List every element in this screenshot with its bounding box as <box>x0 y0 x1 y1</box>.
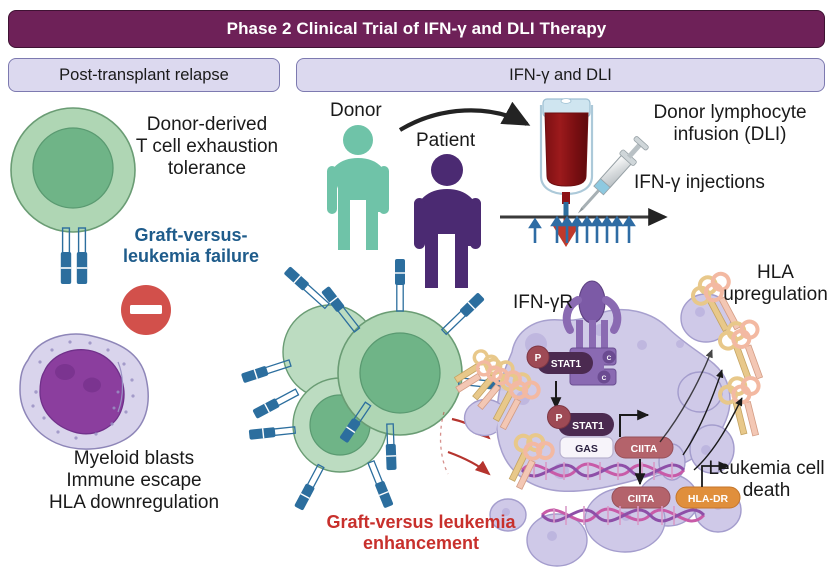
gvl-failure-label: Graft-versus- leukemia failure <box>96 225 286 267</box>
gvl-enhancement-label: Graft-versus leukemia enhancement <box>288 512 554 554</box>
gas-label: GAS <box>575 443 598 455</box>
figure-canvas: Phase 2 Clinical Trial of IFN-γ and DLI … <box>0 0 833 572</box>
gas-element: GAS <box>560 437 613 458</box>
no-entry-icon <box>121 285 171 335</box>
infusion-arrow <box>553 216 579 247</box>
timeline-dose-arrows <box>531 218 634 243</box>
ifn-gamma-receptor-label: IFN-γR <box>513 292 573 314</box>
ciita-protein: CIITA <box>612 487 670 508</box>
leukemia-cell <box>465 310 730 492</box>
donor-person-icon <box>327 125 389 250</box>
hla-upregulation-label: HLA upregulation <box>718 262 833 306</box>
patient-person-icon <box>414 154 481 288</box>
section-header-left-label: Post-transplant relapse <box>59 66 229 85</box>
section-header-post-transplant-relapse: Post-transplant relapse <box>8 58 280 92</box>
svg-text:C: C <box>607 355 612 362</box>
myeloid-blast-label: Myeloid blasts Immune escape HLA downreg… <box>18 448 250 514</box>
patient-label: Patient <box>416 130 475 152</box>
section-header-ifng-dli: IFN-γ and DLI <box>296 58 825 92</box>
dna-helix-lower <box>542 506 704 525</box>
donor-to-bag-arrow <box>400 110 527 130</box>
ciita-transcript-label: CIITA <box>631 443 658 455</box>
tcr-receptor-group <box>61 228 87 284</box>
satellite-nuclei <box>502 307 723 541</box>
dna-helix-upper <box>522 462 684 480</box>
leukemia-cell-death-label: Leukemia cell death <box>700 458 833 502</box>
donor-label: Donor <box>330 100 382 122</box>
section-header-right-label: IFN-γ and DLI <box>509 66 612 85</box>
phospho-label-2: P <box>555 412 562 424</box>
ifn-gamma-receptor: C C <box>567 281 618 385</box>
ifng-injections-label: IFN-γ injections <box>634 172 765 194</box>
stat1-membrane-complex: P STAT1 <box>527 346 593 374</box>
ciita-protein-label: CIITA <box>628 493 655 505</box>
stat1-nuclear-complex: P STAT1 <box>548 406 615 437</box>
figure-title-banner: Phase 2 Clinical Trial of IFN-γ and DLI … <box>8 10 825 48</box>
phospho-label-1: P <box>535 353 542 364</box>
stat1-nuclear-label: STAT1 <box>572 420 604 432</box>
myeloid-blast-cell <box>20 334 148 449</box>
blood-bag-icon <box>541 99 592 216</box>
figure-title: Phase 2 Clinical Trial of IFN-γ and DLI … <box>227 19 607 39</box>
ciita-transcription: CIITA <box>615 415 673 458</box>
surface-display-arrows <box>660 360 704 410</box>
svg-text:C: C <box>602 375 607 382</box>
activated-t-cell-cluster <box>241 259 511 511</box>
stat1-membrane-label: STAT1 <box>551 359 582 370</box>
killing-arrows <box>441 412 489 474</box>
tcr-spikes <box>241 259 511 511</box>
treatment-timeline <box>500 217 665 243</box>
donor-derived-tcell-label: Donor-derived T cell exhaustion toleranc… <box>112 114 302 180</box>
hla-upregulation-arrows <box>660 350 742 470</box>
dli-label: Donor lymphocyte infusion (DLI) <box>630 102 830 146</box>
